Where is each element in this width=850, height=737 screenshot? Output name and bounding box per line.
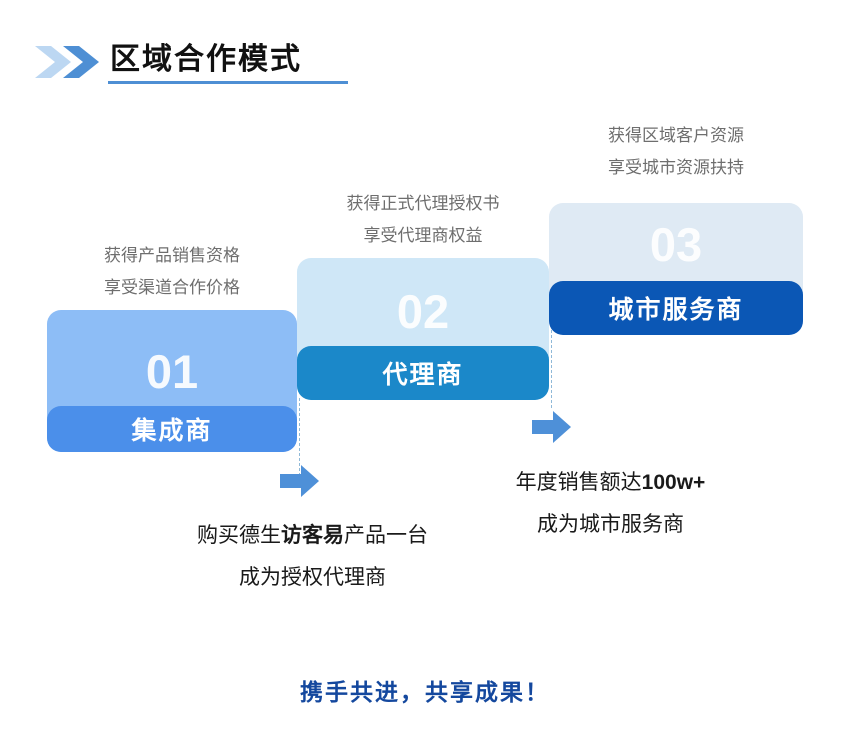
caption-suffix: 产品一台 [344,524,428,547]
step-role-label: 集成商 [47,406,297,452]
benefit-line: 获得正式代理授权书 [297,188,549,220]
step-number: 01 [47,348,297,395]
step-role-label: 城市服务商 [549,281,803,335]
step-benefits-03: 获得区域客户资源 享受城市资源扶持 [549,120,803,184]
step-benefits-02: 获得正式代理授权书 享受代理商权益 [297,188,549,252]
caption-highlight: 访客易 [281,524,344,547]
caption-highlight: 100w+ [642,471,706,494]
step-number: 03 [549,221,803,268]
connector-dashed-line [551,330,552,408]
caption-line-2: 成为授权代理商 [140,557,485,599]
transition-arrow-2 [532,410,572,449]
caption-prefix: 年度销售额达 [516,471,642,494]
step-card-01[interactable]: 01 集成商 [47,310,297,452]
benefit-line: 获得区域客户资源 [549,120,803,152]
benefit-line: 享受城市资源扶持 [549,152,803,184]
transition-caption-1: 购买德生访客易产品一台 成为授权代理商 [140,515,485,599]
caption-line-1: 购买德生访客易产品一台 [140,515,485,557]
arrow-right-icon [280,464,320,498]
benefit-line: 享受渠道合作价格 [47,272,297,304]
caption-prefix: 购买德生 [197,524,281,547]
poster-canvas: 区域合作模式 获得产品销售资格 享受渠道合作价格 获得正式代理授权书 享受代理商… [0,0,850,737]
step-staircase: 获得产品销售资格 享受渠道合作价格 获得正式代理授权书 享受代理商权益 获得区域… [0,0,850,470]
step-number: 02 [297,288,549,335]
transition-caption-2: 年度销售额达100w+ 成为城市服务商 [438,462,783,546]
step-card-02[interactable]: 02 代理商 [297,258,549,400]
footer-slogan: 携手共进，共享成果！ [0,673,850,707]
caption-line-2: 成为城市服务商 [438,504,783,546]
step-benefits-01: 获得产品销售资格 享受渠道合作价格 [47,240,297,304]
caption-line-1: 年度销售额达100w+ [438,462,783,504]
benefit-line: 获得产品销售资格 [47,240,297,272]
step-card-03[interactable]: 03 城市服务商 [549,203,803,335]
benefit-line: 享受代理商权益 [297,220,549,252]
arrow-right-icon [532,410,572,444]
transition-arrow-1 [280,464,320,503]
step-role-label: 代理商 [297,346,549,400]
